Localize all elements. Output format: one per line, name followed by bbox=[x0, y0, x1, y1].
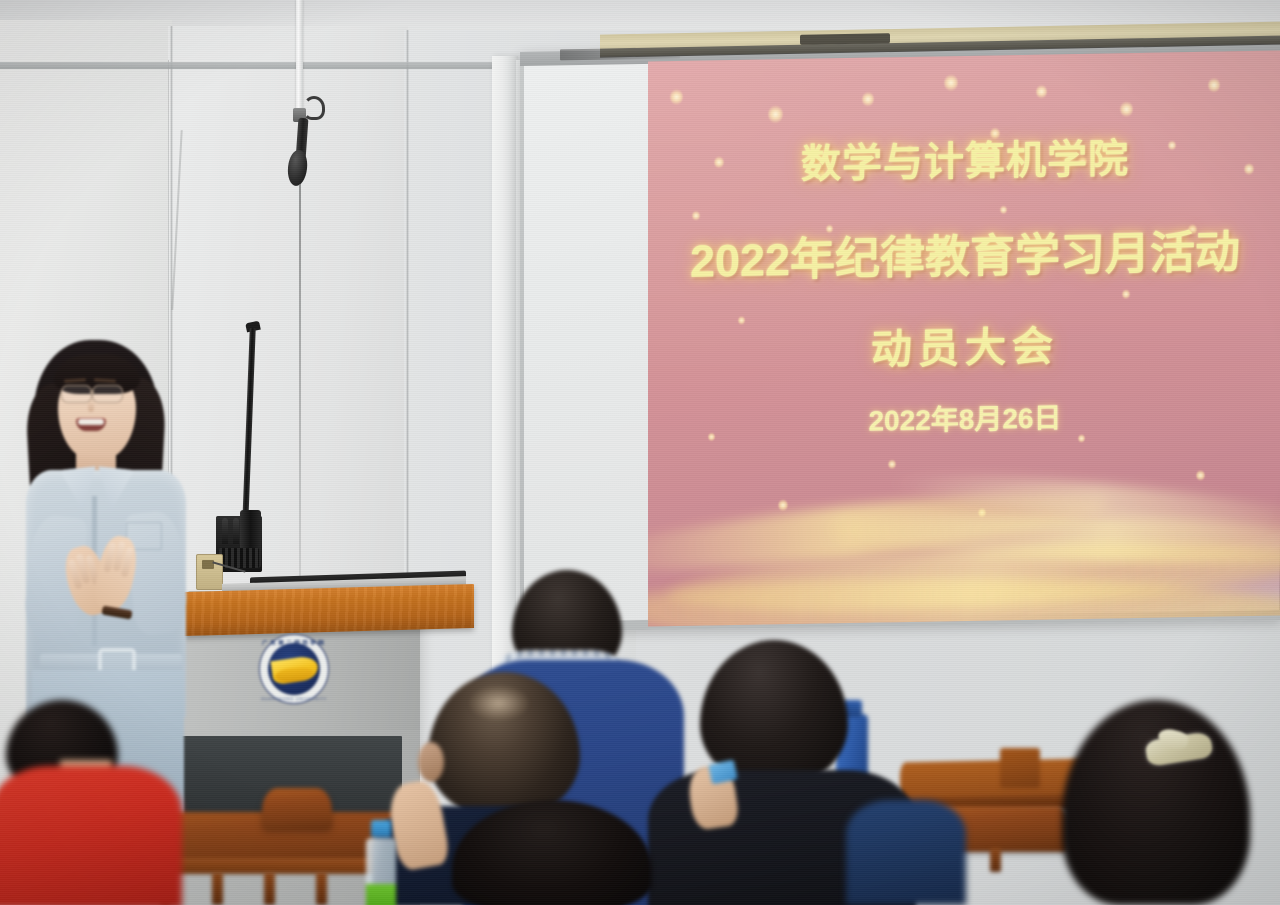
speaker-glasses-left-lens bbox=[61, 385, 92, 403]
valance-clip bbox=[800, 33, 890, 45]
slide-organization-line: 数学与计算机学院 bbox=[801, 137, 1129, 187]
hair-flower-2 bbox=[498, 836, 532, 870]
university-emblem: 广东第二师范学院 GUANGDONG UNIVERSITY bbox=[259, 634, 329, 704]
chair-slat-2 bbox=[212, 872, 223, 905]
hair-flower-3 bbox=[528, 840, 556, 868]
podium-wood-grain bbox=[184, 584, 474, 636]
microphone-pole bbox=[296, 0, 303, 116]
photo-scene: 数学与计算机学院 2022年纪律教育学习月活动 动员大会 2022年8月26日 bbox=[0, 0, 1280, 905]
audience-ear bbox=[418, 742, 444, 782]
slide-subtitle: 动员大会 bbox=[871, 324, 1059, 372]
antenna-prong-2 bbox=[233, 518, 239, 544]
speaker-glasses-bridge bbox=[90, 391, 94, 393]
microphone-hook-icon bbox=[303, 96, 325, 120]
speaker-nose bbox=[88, 400, 94, 412]
audience-body-red-shirt bbox=[0, 766, 182, 905]
microphone-cable bbox=[299, 184, 301, 594]
slide-text-block: 数学与计算机学院 2022年纪律教育学习月活动 动员大会 2022年8月26日 bbox=[648, 50, 1280, 626]
audience-head-highlight bbox=[470, 686, 528, 720]
chair-back-knob bbox=[262, 788, 332, 830]
chair-slat-r2 bbox=[990, 848, 1001, 872]
audience-shoulder-navy bbox=[846, 800, 966, 905]
green-bottle-cap bbox=[371, 820, 391, 837]
slide-date: 2022年8月26日 bbox=[868, 403, 1061, 437]
wooden-table-post bbox=[1000, 748, 1040, 788]
water-bottle-green-label bbox=[364, 820, 398, 905]
projection-slide: 数学与计算机学院 2022年纪律教育学习月活动 动员大会 2022年8月26日 bbox=[648, 50, 1280, 626]
emblem-bottom-text: GUANGDONG UNIVERSITY bbox=[259, 696, 329, 701]
speaker-teeth bbox=[78, 419, 104, 425]
chair-slat-3 bbox=[264, 872, 275, 905]
speaker-glasses-right-lens bbox=[92, 385, 123, 403]
podium-wood-top bbox=[184, 584, 474, 636]
antenna-prong-1 bbox=[222, 518, 228, 544]
chair-slat-4 bbox=[316, 872, 327, 905]
green-bottle-label bbox=[366, 884, 396, 905]
slide-main-title: 2022年纪律教育学习月活动 bbox=[690, 227, 1240, 286]
